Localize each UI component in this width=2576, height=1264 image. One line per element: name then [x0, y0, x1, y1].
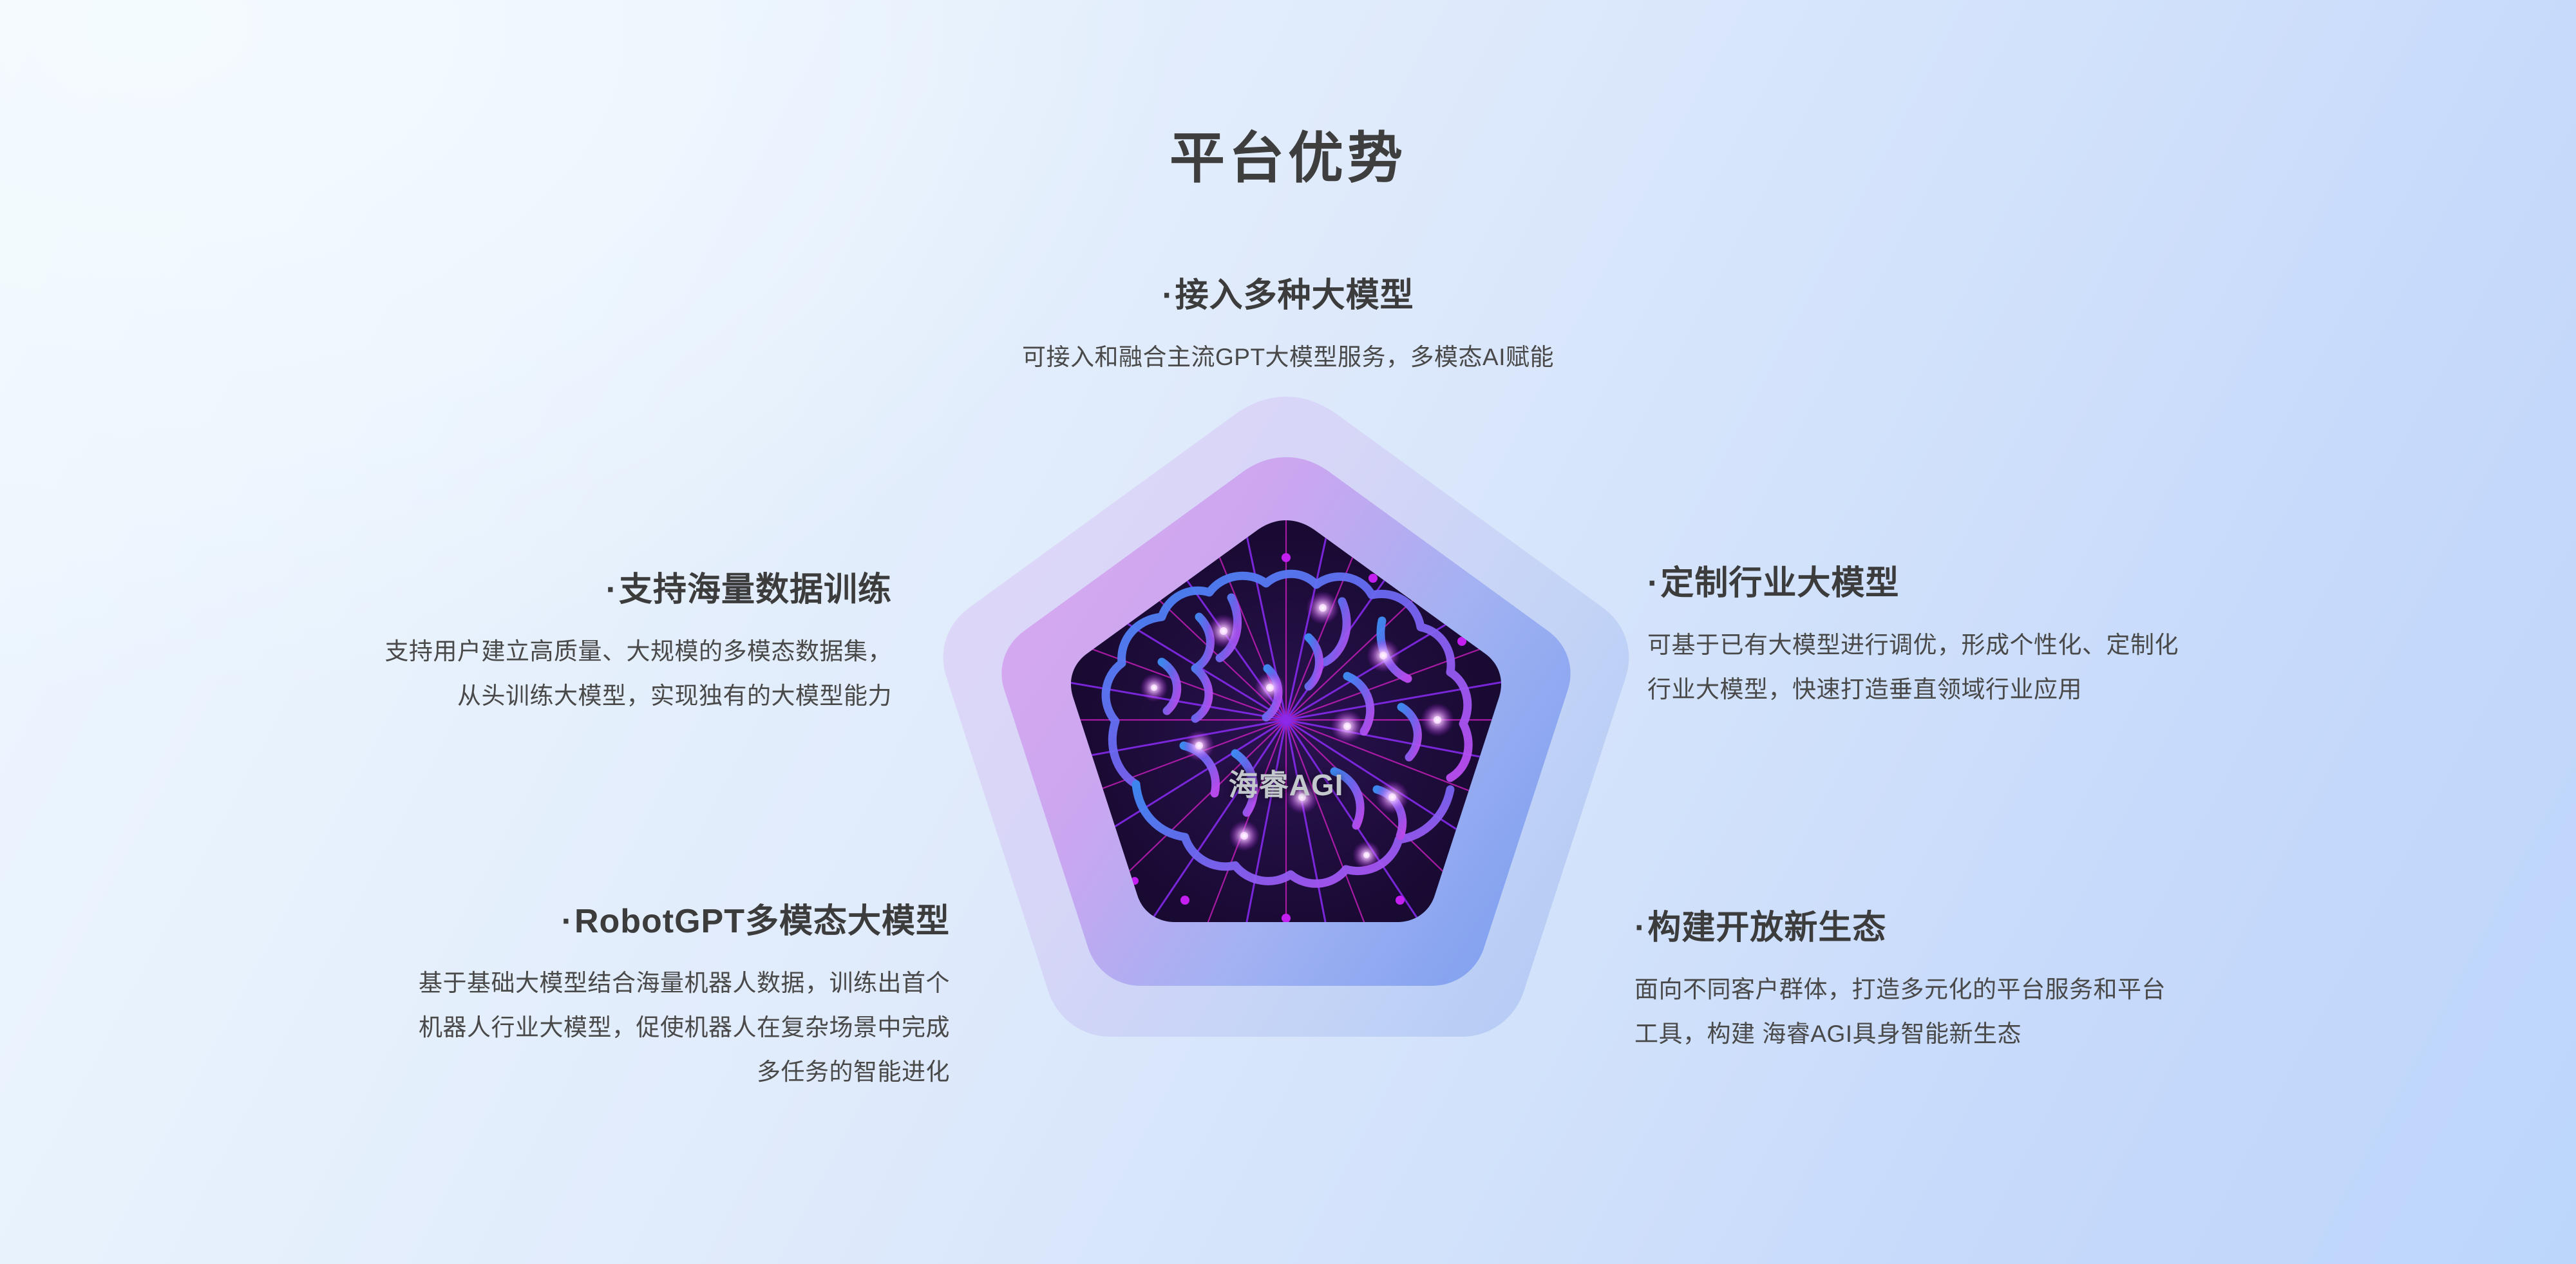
feature-heading-text: 定制行业大模型	[1660, 565, 1899, 602]
bullet-marker-icon: ·	[1634, 909, 1647, 947]
feature-description: 支持用户建立高质量、大规模的多模态数据集， 从头训练大模型，实现独有的大模型能力	[119, 630, 892, 719]
description-line: 可接入和融合主流GPT大模型服务，多模态AI赋能	[773, 335, 1803, 380]
description-line: 工具，构建 海睿AGI具身智能新生态	[1634, 1012, 2504, 1057]
feature-heading: ·构建开放新生态	[1634, 908, 1886, 951]
feature-heading-text: 接入多种大模型	[1175, 277, 1414, 314]
description-line: 多任务的智能进化	[177, 1050, 950, 1095]
description-line: 从头训练大模型，实现独有的大模型能力	[119, 674, 892, 719]
bullet-marker-icon: ·	[1647, 565, 1660, 602]
feature-description: 可基于已有大模型进行调优，形成个性化、定制化 行业大模型，快速打造垂直领域行业应…	[1647, 623, 2517, 712]
description-line: 行业大模型，快速打造垂直领域行业应用	[1647, 668, 2517, 712]
feature-description: 面向不同客户群体，打造多元化的平台服务和平台 工具，构建 海睿AGI具身智能新生…	[1634, 968, 2504, 1057]
feature-robotgpt-multimodal-model: ·RobotGPT多模态大模型 基于基础大模型结合海量机器人数据，训练出首个 机…	[177, 901, 950, 1095]
feature-heading-text: 构建开放新生态	[1647, 909, 1886, 947]
feature-heading: ·定制行业大模型	[1647, 563, 1899, 607]
feature-heading-text: RobotGPT多模态大模型	[574, 903, 950, 940]
feature-heading: ·RobotGPT多模态大模型	[562, 901, 950, 945]
description-line: 支持用户建立高质量、大规模的多模态数据集，	[119, 630, 892, 674]
feature-description: 可接入和融合主流GPT大模型服务，多模态AI赋能	[773, 335, 1803, 380]
feature-massive-data-training: ·支持海量数据训练 支持用户建立高质量、大规模的多模态数据集， 从头训练大模型，…	[119, 570, 892, 719]
description-line: 可基于已有大模型进行调优，形成个性化、定制化	[1647, 623, 2517, 668]
feature-description: 基于基础大模型结合海量机器人数据，训练出首个 机器人行业大模型，促使机器人在复杂…	[177, 961, 950, 1094]
page-title: 平台优势	[0, 113, 2576, 193]
feature-access-multiple-models: ·接入多种大模型 可接入和融合主流GPT大模型服务，多模态AI赋能	[773, 276, 1803, 380]
feature-heading: ·支持海量数据训练	[606, 570, 892, 613]
description-line: 面向不同客户群体，打造多元化的平台服务和平台	[1634, 968, 2504, 1012]
bullet-marker-icon: ·	[606, 571, 619, 608]
feature-heading-text: 支持海量数据训练	[619, 571, 892, 608]
center-emblem: 海睿AGI	[922, 385, 1650, 1113]
platform-advantages-infographic: 平台优势	[0, 0, 2576, 1264]
bullet-marker-icon: ·	[1162, 277, 1175, 314]
feature-heading: ·接入多种大模型	[1162, 276, 1414, 319]
description-line: 基于基础大模型结合海量机器人数据，训练出首个	[177, 961, 950, 1006]
description-line: 机器人行业大模型，促使机器人在复杂场景中完成	[177, 1006, 950, 1050]
feature-custom-industry-model: ·定制行业大模型 可基于已有大模型进行调优，形成个性化、定制化 行业大模型，快速…	[1647, 563, 2517, 712]
bullet-marker-icon: ·	[562, 903, 574, 940]
feature-open-ecosystem: ·构建开放新生态 面向不同客户群体，打造多元化的平台服务和平台 工具，构建 海睿…	[1634, 908, 2504, 1057]
